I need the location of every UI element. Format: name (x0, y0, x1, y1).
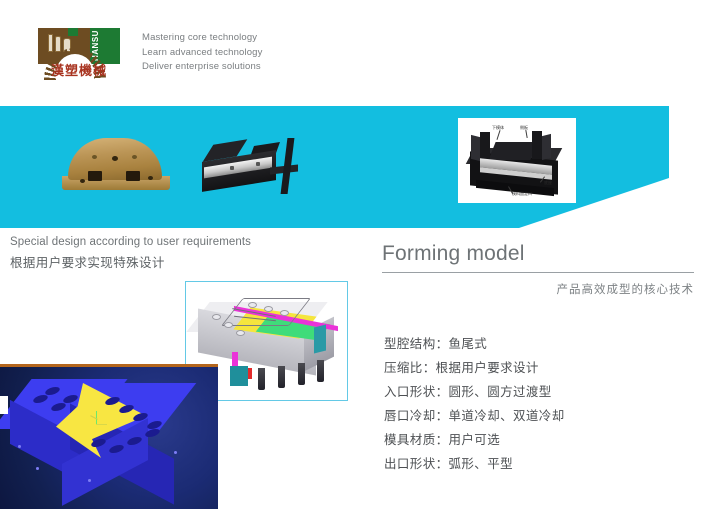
brass-die-hole (80, 179, 85, 183)
special-design-cn: 根据用户要求实现特殊设计 (10, 252, 251, 271)
diagram-wing-right (542, 134, 551, 160)
diagram-label-base: 底座 (544, 180, 552, 185)
diagram-post-left (480, 132, 490, 160)
product-photo-black-die (200, 132, 300, 198)
cad-hole (212, 314, 221, 320)
render-surface-dot (18, 445, 21, 448)
cad-hole (248, 302, 257, 308)
forming-model-subtitle: 产品高效成型的核心技术 (382, 281, 694, 297)
cad-leg (298, 363, 305, 385)
brass-die-slot (88, 171, 102, 181)
company-logo: HANSU 漢塑機械 (38, 28, 120, 80)
render-surface-dot (36, 467, 39, 470)
cad-hole (236, 330, 245, 336)
render-surface-dot (174, 451, 177, 454)
forming-model-divider (382, 272, 694, 273)
blue-cavity-render (0, 364, 218, 509)
cad-teal-fitting (230, 366, 248, 386)
brass-die-hole (92, 155, 97, 159)
spec-compression-ratio: 压缩比：根据用户要求设计 (384, 356, 684, 380)
black-die-bolt (230, 166, 234, 170)
product-photo-brass-die (62, 138, 172, 196)
diagram-label-material-port: 模料固定口 (512, 191, 532, 196)
brass-die-hole (148, 176, 153, 180)
diagram-leader-line (496, 130, 500, 140)
diagram-mid-block (488, 142, 537, 160)
spec-inlet-shape: 入口形状：圆形、圆方过渡型 (384, 380, 684, 404)
cad-leg (317, 360, 324, 382)
tagline-line-3: Deliver enterprise solutions (142, 60, 262, 75)
forming-model-heading-block: Forming model 产品高效成型的核心技术 (382, 242, 694, 297)
cad-leg (278, 366, 285, 388)
tagline-line-1: Mastering core technology (142, 31, 262, 46)
company-tagline: Mastering core technology Learn advanced… (142, 31, 262, 75)
logo-mark-icon: HANSU (38, 28, 120, 64)
cad-leg (258, 368, 265, 390)
tagline-line-2: Learn advanced technology (142, 46, 262, 61)
brass-die-hole (132, 155, 137, 159)
cad-hole (280, 310, 289, 316)
specification-list: 型腔结构：鱼尾式 压缩比：根据用户要求设计 入口形状：圆形、圆方过渡型 唇口冷却… (384, 332, 684, 476)
diagram-card: 下模体 侧板 底座 模料固定口 (458, 118, 576, 203)
black-die-bolt (256, 162, 260, 166)
cad-hole (264, 306, 273, 312)
cad-teal-fitting (314, 325, 326, 354)
cad-hole (224, 322, 233, 328)
logo-chinese-name: 漢塑機械 (38, 64, 120, 80)
cad-red-marker (248, 368, 252, 379)
spec-cavity-structure: 型腔结构：鱼尾式 (384, 332, 684, 356)
spec-mold-material: 模具材质：用户可选 (384, 428, 684, 452)
diagram-leader-line (525, 130, 527, 138)
special-design-en: Special design according to user require… (10, 236, 251, 248)
render-gap-spacer (0, 396, 8, 414)
forming-model-title: Forming model (382, 242, 694, 266)
brass-die-hole (112, 156, 118, 161)
diagram-label-side-plate: 侧板 (520, 125, 528, 130)
brass-die-slot (126, 171, 140, 181)
render-axis-triad-x (96, 424, 107, 425)
diagram-post-right (532, 131, 542, 159)
spec-lip-cooling: 唇口冷却：单道冷却、双道冷却 (384, 404, 684, 428)
page-header: HANSU 漢塑機械 Mastering core technology Lea… (0, 0, 720, 98)
render-surface-dot (88, 479, 91, 482)
diagram-label-lower-mold: 下模体 (492, 125, 504, 130)
special-design-text: Special design according to user require… (10, 236, 251, 271)
spec-outlet-shape: 出口形状：弧形、平型 (384, 452, 684, 476)
diagram-wing-left (471, 135, 480, 161)
